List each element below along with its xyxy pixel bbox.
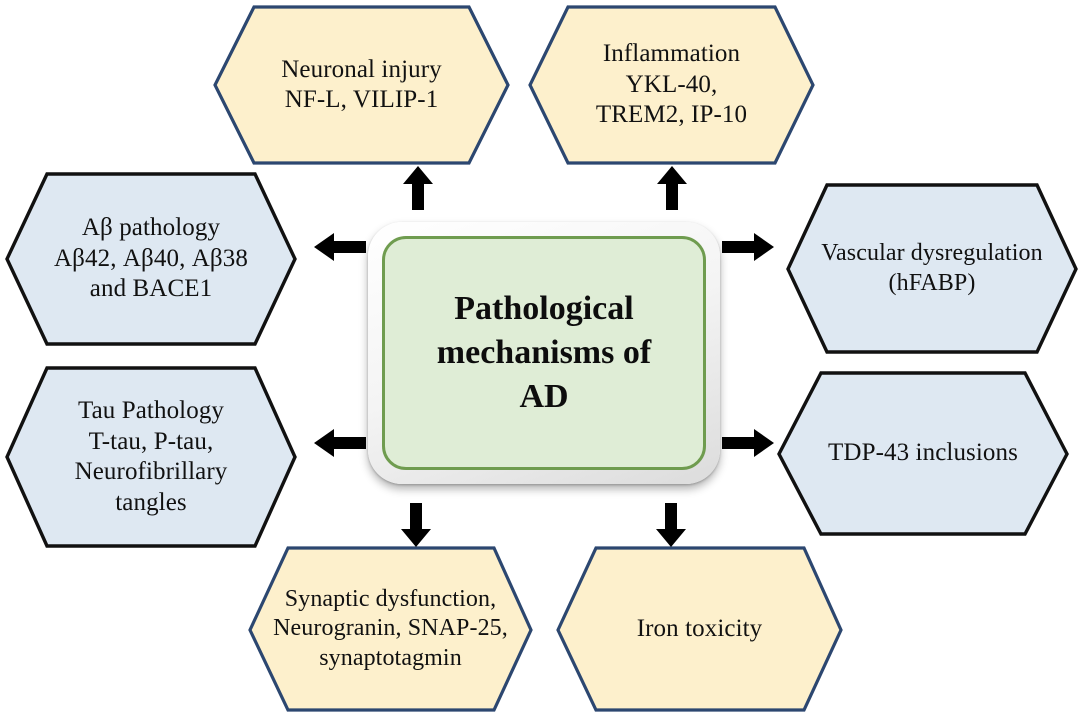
arrow-down-icon	[655, 503, 687, 547]
node-label: Tau Pathology T-tau, P-tau, Neurofibrill…	[69, 396, 234, 518]
node-label: Aβ pathology Aβ42, Aβ40, Aβ38 and BACE1	[48, 213, 254, 305]
node-vascular-dysregulation: Vascular dysregulation (hFABP)	[786, 183, 1078, 354]
arrow-left-upper	[314, 232, 366, 262]
node-label: Inflammation YKL-40, TREM2, IP-10	[590, 39, 753, 131]
node-label: Vascular dysregulation (hFABP)	[815, 239, 1048, 298]
arrow-right-icon	[722, 232, 774, 262]
arrow-right-lower	[722, 428, 774, 458]
node-label: TDP-43 inclusions	[822, 438, 1024, 469]
node-tdp-43-inclusions: TDP-43 inclusions	[777, 371, 1069, 536]
node-abeta-pathology: Aβ pathology Aβ42, Aβ40, Aβ38 and BACE1	[5, 172, 297, 346]
node-label: Neuronal injury NF-L, VILIP-1	[275, 55, 447, 116]
arrow-left-icon	[314, 232, 366, 262]
arrow-down-icon	[400, 503, 432, 547]
arrow-right-icon	[722, 428, 774, 458]
center-node: Pathological mechanisms of AD	[368, 222, 720, 484]
node-tau-pathology: Tau Pathology T-tau, P-tau, Neurofibrill…	[5, 366, 297, 548]
arrow-left-icon	[314, 428, 366, 458]
node-inflammation: Inflammation YKL-40, TREM2, IP-10	[528, 5, 815, 165]
arrow-right-upper	[722, 232, 774, 262]
center-title: Pathological mechanisms of AD	[437, 287, 651, 420]
node-iron-toxicity: Iron toxicity	[556, 546, 843, 712]
arrow-up-icon	[402, 166, 434, 210]
node-synaptic-dysfunction: Synaptic dysfunction, Neurogranin, SNAP-…	[248, 546, 533, 712]
node-label: Iron toxicity	[631, 614, 769, 645]
arrow-up-icon	[656, 166, 688, 210]
arrow-down-left	[400, 503, 432, 547]
arrow-up-left	[402, 166, 434, 210]
diagram-canvas: Neuronal injury NF-L, VILIP-1 Inflammati…	[0, 0, 1080, 715]
center-inner-panel: Pathological mechanisms of AD	[382, 236, 706, 470]
arrow-left-lower	[314, 428, 366, 458]
arrow-down-right	[655, 503, 687, 547]
node-label: Synaptic dysfunction, Neurogranin, SNAP-…	[267, 585, 514, 673]
arrow-up-right	[656, 166, 688, 210]
node-neuronal-injury: Neuronal injury NF-L, VILIP-1	[213, 5, 510, 165]
